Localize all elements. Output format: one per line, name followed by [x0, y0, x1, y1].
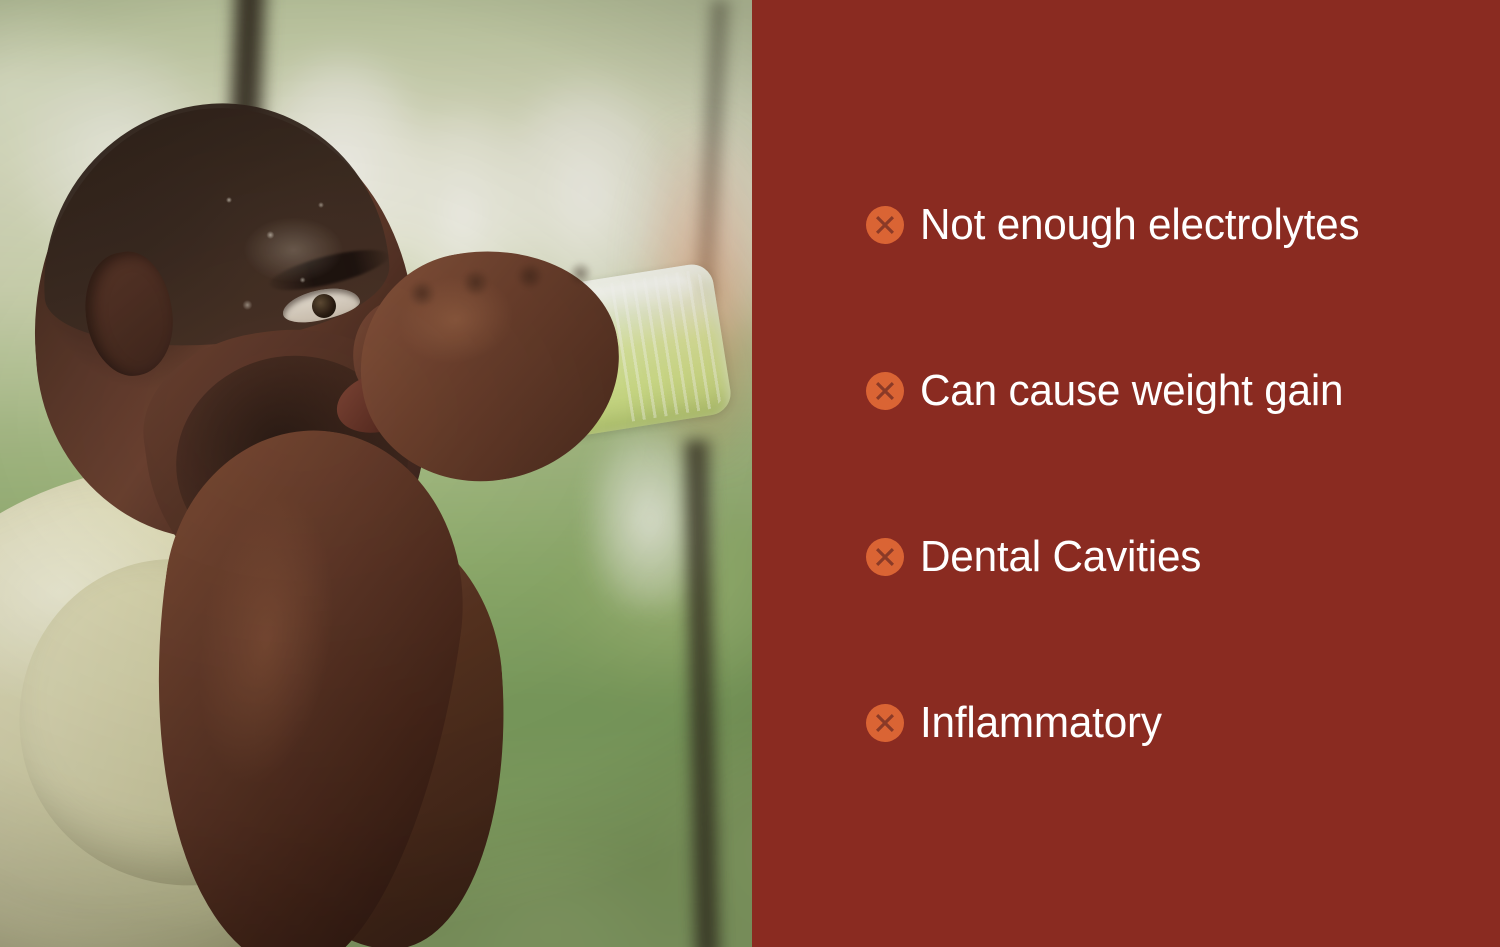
- person-subject: [0, 0, 752, 947]
- x-circle-icon: [866, 206, 904, 244]
- list-item-label: Not enough electrolytes: [920, 203, 1359, 247]
- hero-photo: [0, 0, 752, 947]
- promo-banner: Not enough electrolytes Can cause weight…: [0, 0, 1500, 947]
- list-item-label: Inflammatory: [920, 701, 1162, 745]
- list-item-label: Can cause weight gain: [920, 369, 1343, 413]
- x-circle-icon: [866, 538, 904, 576]
- x-circle-icon: [866, 372, 904, 410]
- x-circle-icon: [866, 704, 904, 742]
- drawbacks-list: Not enough electrolytes Can cause weight…: [866, 142, 1500, 806]
- list-item-label: Dental Cavities: [920, 535, 1201, 579]
- drawbacks-panel: Not enough electrolytes Can cause weight…: [752, 0, 1500, 947]
- sweat-droplets: [160, 150, 390, 400]
- list-item: Can cause weight gain: [866, 308, 1500, 474]
- list-item: Dental Cavities: [866, 474, 1500, 640]
- list-item: Inflammatory: [866, 640, 1500, 806]
- list-item: Not enough electrolytes: [866, 142, 1500, 308]
